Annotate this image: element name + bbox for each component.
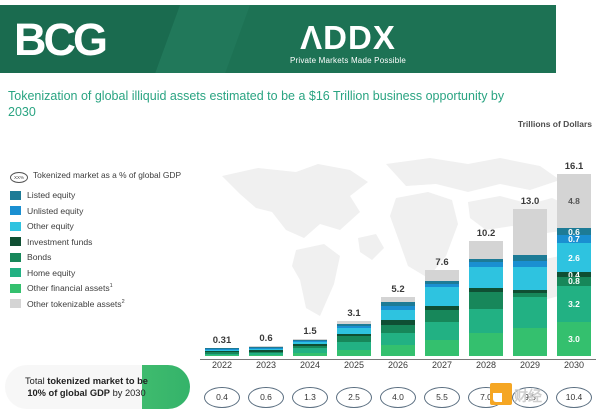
stacked-bar[interactable] — [469, 241, 503, 356]
gdp-percent-cell: 0.4 — [200, 387, 244, 408]
bar-column[interactable]: 10.2 — [464, 142, 508, 356]
gdp-percent-cell: 4.0 — [376, 387, 420, 408]
bar-segment[interactable] — [469, 309, 503, 334]
gdp-badge-icon: XX% — [10, 172, 28, 183]
bar-segment[interactable] — [469, 292, 503, 308]
gdp-percent-badge: 1.3 — [292, 387, 328, 408]
callout-line2-b: by 2030 — [110, 388, 146, 398]
callout-pill: Total tokenized market to be 10% of glob… — [5, 365, 190, 409]
page-title: Tokenization of global illiquid assets e… — [8, 88, 508, 120]
stacked-bar[interactable] — [425, 270, 459, 356]
legend-swatch-icon — [10, 284, 21, 293]
legend-footnote-marker: 1 — [110, 283, 113, 289]
bar-total-label: 0.31 — [205, 335, 239, 346]
units-label: Trillions of Dollars — [518, 119, 592, 129]
infographic-page: BCG ΛDDX Private Markets Made Possible T… — [0, 0, 600, 420]
gdp-percent-badge: 0.6 — [248, 387, 284, 408]
gdp-percent-cell: 2.5 — [332, 387, 376, 408]
legend-swatch-icon — [10, 191, 21, 200]
bar-holder: 13.0 — [513, 209, 547, 356]
bar-segment[interactable] — [205, 355, 239, 356]
legend-gdp-note: Tokenized market as a % of global GDP — [33, 170, 181, 181]
legend: XX% Tokenized market as a % of global GD… — [10, 170, 190, 314]
legend-item-label: Other tokenizable assets2 — [27, 299, 125, 309]
bar-segment[interactable] — [513, 297, 547, 328]
bar-total-label: 3.1 — [337, 308, 371, 319]
bar-holder: 0.31 — [205, 348, 239, 356]
stacked-bar[interactable] — [381, 297, 415, 356]
legend-item-list: Listed equityUnlisted equityOther equity… — [10, 190, 190, 309]
x-axis-tick-2029: 2029 — [508, 360, 552, 378]
bar-total-label: 7.6 — [425, 257, 459, 268]
bar-holder: 5.2 — [381, 297, 415, 356]
addx-logo-group: ΛDDX Private Markets Made Possible — [268, 21, 428, 65]
bar-segment[interactable] — [381, 310, 415, 320]
bar-segment[interactable] — [337, 350, 371, 356]
bar-total-label: 16.1 — [557, 161, 591, 172]
bar-segment[interactable]: 0.8 — [557, 277, 591, 286]
stacked-bar[interactable] — [337, 321, 371, 356]
bar-segment[interactable]: 2.6 — [557, 243, 591, 272]
watermark: 财经 — [490, 383, 590, 409]
legend-swatch-icon — [10, 299, 21, 308]
legend-item-label: Unlisted equity — [27, 206, 83, 216]
bar-column[interactable]: 5.2 — [376, 142, 420, 356]
bar-holder: 0.6 — [249, 346, 283, 356]
legend-swatch-icon — [10, 268, 21, 277]
bar-segment[interactable] — [513, 209, 547, 255]
bar-segment[interactable] — [469, 267, 503, 288]
bar-holder: 7.6 — [425, 270, 459, 356]
bar-segment[interactable] — [469, 241, 503, 259]
watermark-logo-icon — [490, 383, 512, 405]
bar-segment[interactable] — [293, 353, 327, 356]
legend-item[interactable]: Bonds — [10, 252, 190, 262]
bar-holder: 1.5 — [293, 339, 327, 356]
addx-tagline: Private Markets Made Possible — [268, 56, 428, 65]
legend-item-label: Listed equity — [27, 190, 75, 200]
gdp-percent-cell: 5.5 — [420, 387, 464, 408]
bar-segment[interactable] — [425, 310, 459, 322]
bar-total-label: 13.0 — [513, 196, 547, 207]
bar-segment[interactable] — [337, 342, 371, 350]
bar-column[interactable]: 16.14.80.60.72.60.40.83.23.0 — [552, 142, 596, 356]
legend-item[interactable]: Other tokenizable assets2 — [10, 299, 190, 309]
x-axis-tick-2022: 2022 — [200, 360, 244, 378]
x-axis-tick-2026: 2026 — [376, 360, 420, 378]
legend-item[interactable]: Other equity — [10, 221, 190, 231]
bar-segment[interactable] — [381, 345, 415, 356]
watermark-text: 财经 — [514, 386, 542, 406]
bar-column[interactable]: 0.6 — [244, 142, 288, 356]
legend-item[interactable]: Investment funds — [10, 237, 190, 247]
callout-line2-a: 10% of global GDP — [27, 388, 110, 398]
gdp-percent-badge: 2.5 — [336, 387, 372, 408]
bar-segment[interactable]: 3.0 — [557, 322, 591, 356]
bar-column[interactable]: 0.31 — [200, 142, 244, 356]
brand-header: BCG ΛDDX Private Markets Made Possible — [0, 5, 556, 73]
stacked-bar-chart: 0.310.61.53.15.27.610.213.016.14.80.60.7… — [200, 138, 596, 360]
x-axis-tick-2023: 2023 — [244, 360, 288, 378]
bcg-logo: BCG — [14, 18, 105, 62]
bar-segment[interactable] — [513, 267, 547, 290]
bar-holder: 10.2 — [469, 241, 503, 356]
legend-swatch-icon — [10, 253, 21, 262]
bar-column[interactable]: 13.0 — [508, 142, 552, 356]
bar-total-label: 1.5 — [293, 326, 327, 337]
callout-text: Total tokenized market to be 10% of glob… — [9, 375, 164, 399]
bar-segment[interactable] — [249, 355, 283, 356]
bar-segment[interactable] — [425, 287, 459, 307]
bar-column[interactable]: 3.1 — [332, 142, 376, 356]
x-axis-tick-2028: 2028 — [464, 360, 508, 378]
bar-total-label: 10.2 — [469, 228, 503, 239]
bar-segment[interactable] — [425, 340, 459, 356]
legend-item-label: Other financial assets1 — [27, 283, 113, 293]
bar-segment[interactable] — [425, 270, 459, 281]
bar-segment[interactable] — [469, 333, 503, 356]
legend-footnote-marker: 2 — [122, 299, 125, 305]
bar-total-label: 0.6 — [249, 333, 283, 344]
bars-plot-area: 0.310.61.53.15.27.610.213.016.14.80.60.7… — [200, 142, 596, 356]
x-axis-tick-2030: 2030 — [552, 360, 596, 378]
stacked-bar[interactable] — [249, 346, 283, 356]
bar-segment[interactable] — [381, 333, 415, 345]
addx-logo: ΛDDX — [268, 21, 428, 55]
legend-item[interactable]: Unlisted equity — [10, 206, 190, 216]
x-axis-tick-2027: 2027 — [420, 360, 464, 378]
bar-column[interactable]: 7.6 — [420, 142, 464, 356]
legend-item[interactable]: Listed equity — [10, 190, 190, 200]
legend-item[interactable]: Other financial assets1 — [10, 283, 190, 293]
bar-segment[interactable] — [425, 322, 459, 340]
x-axis-tick-2024: 2024 — [288, 360, 332, 378]
x-axis-tick-labels: 202220232024202520262027202820292030 — [200, 360, 596, 378]
gdp-percent-badge: 0.4 — [204, 387, 240, 408]
bar-segment[interactable]: 0.6 — [557, 228, 591, 235]
bar-holder: 16.14.80.60.72.60.40.83.23.0 — [557, 174, 591, 356]
stacked-bar[interactable] — [205, 348, 239, 356]
bar-segment[interactable]: 0.7 — [557, 235, 591, 243]
bar-holder: 3.1 — [337, 321, 371, 356]
bar-segment[interactable] — [381, 325, 415, 333]
legend-item[interactable]: Home equity — [10, 268, 190, 278]
x-axis-tick-2025: 2025 — [332, 360, 376, 378]
gdp-percent-badge: 4.0 — [380, 387, 416, 408]
legend-gdp-note-row: XX% Tokenized market as a % of global GD… — [10, 170, 190, 183]
stacked-bar[interactable] — [293, 339, 327, 356]
bar-segment[interactable]: 4.8 — [557, 174, 591, 228]
stacked-bar[interactable]: 4.80.60.72.60.40.83.23.0 — [557, 174, 591, 356]
gdp-percent-badge: 5.5 — [424, 387, 460, 408]
legend-swatch-icon — [10, 222, 21, 231]
stacked-bar[interactable] — [513, 209, 547, 356]
legend-item-label: Home equity — [27, 268, 75, 278]
legend-swatch-icon — [10, 237, 21, 246]
legend-item-label: Other equity — [27, 221, 74, 231]
callout-line1-a: Total — [25, 376, 47, 386]
legend-item-label: Investment funds — [27, 237, 92, 247]
gdp-percent-cell: 0.6 — [244, 387, 288, 408]
bar-segment[interactable] — [513, 328, 547, 356]
callout-line1-b: tokenized market to be — [47, 376, 148, 386]
bar-column[interactable]: 1.5 — [288, 142, 332, 356]
bar-total-label: 5.2 — [381, 284, 415, 295]
legend-swatch-icon — [10, 206, 21, 215]
bar-segment[interactable]: 3.2 — [557, 286, 591, 322]
gdp-percent-cell: 1.3 — [288, 387, 332, 408]
legend-item-label: Bonds — [27, 252, 51, 262]
